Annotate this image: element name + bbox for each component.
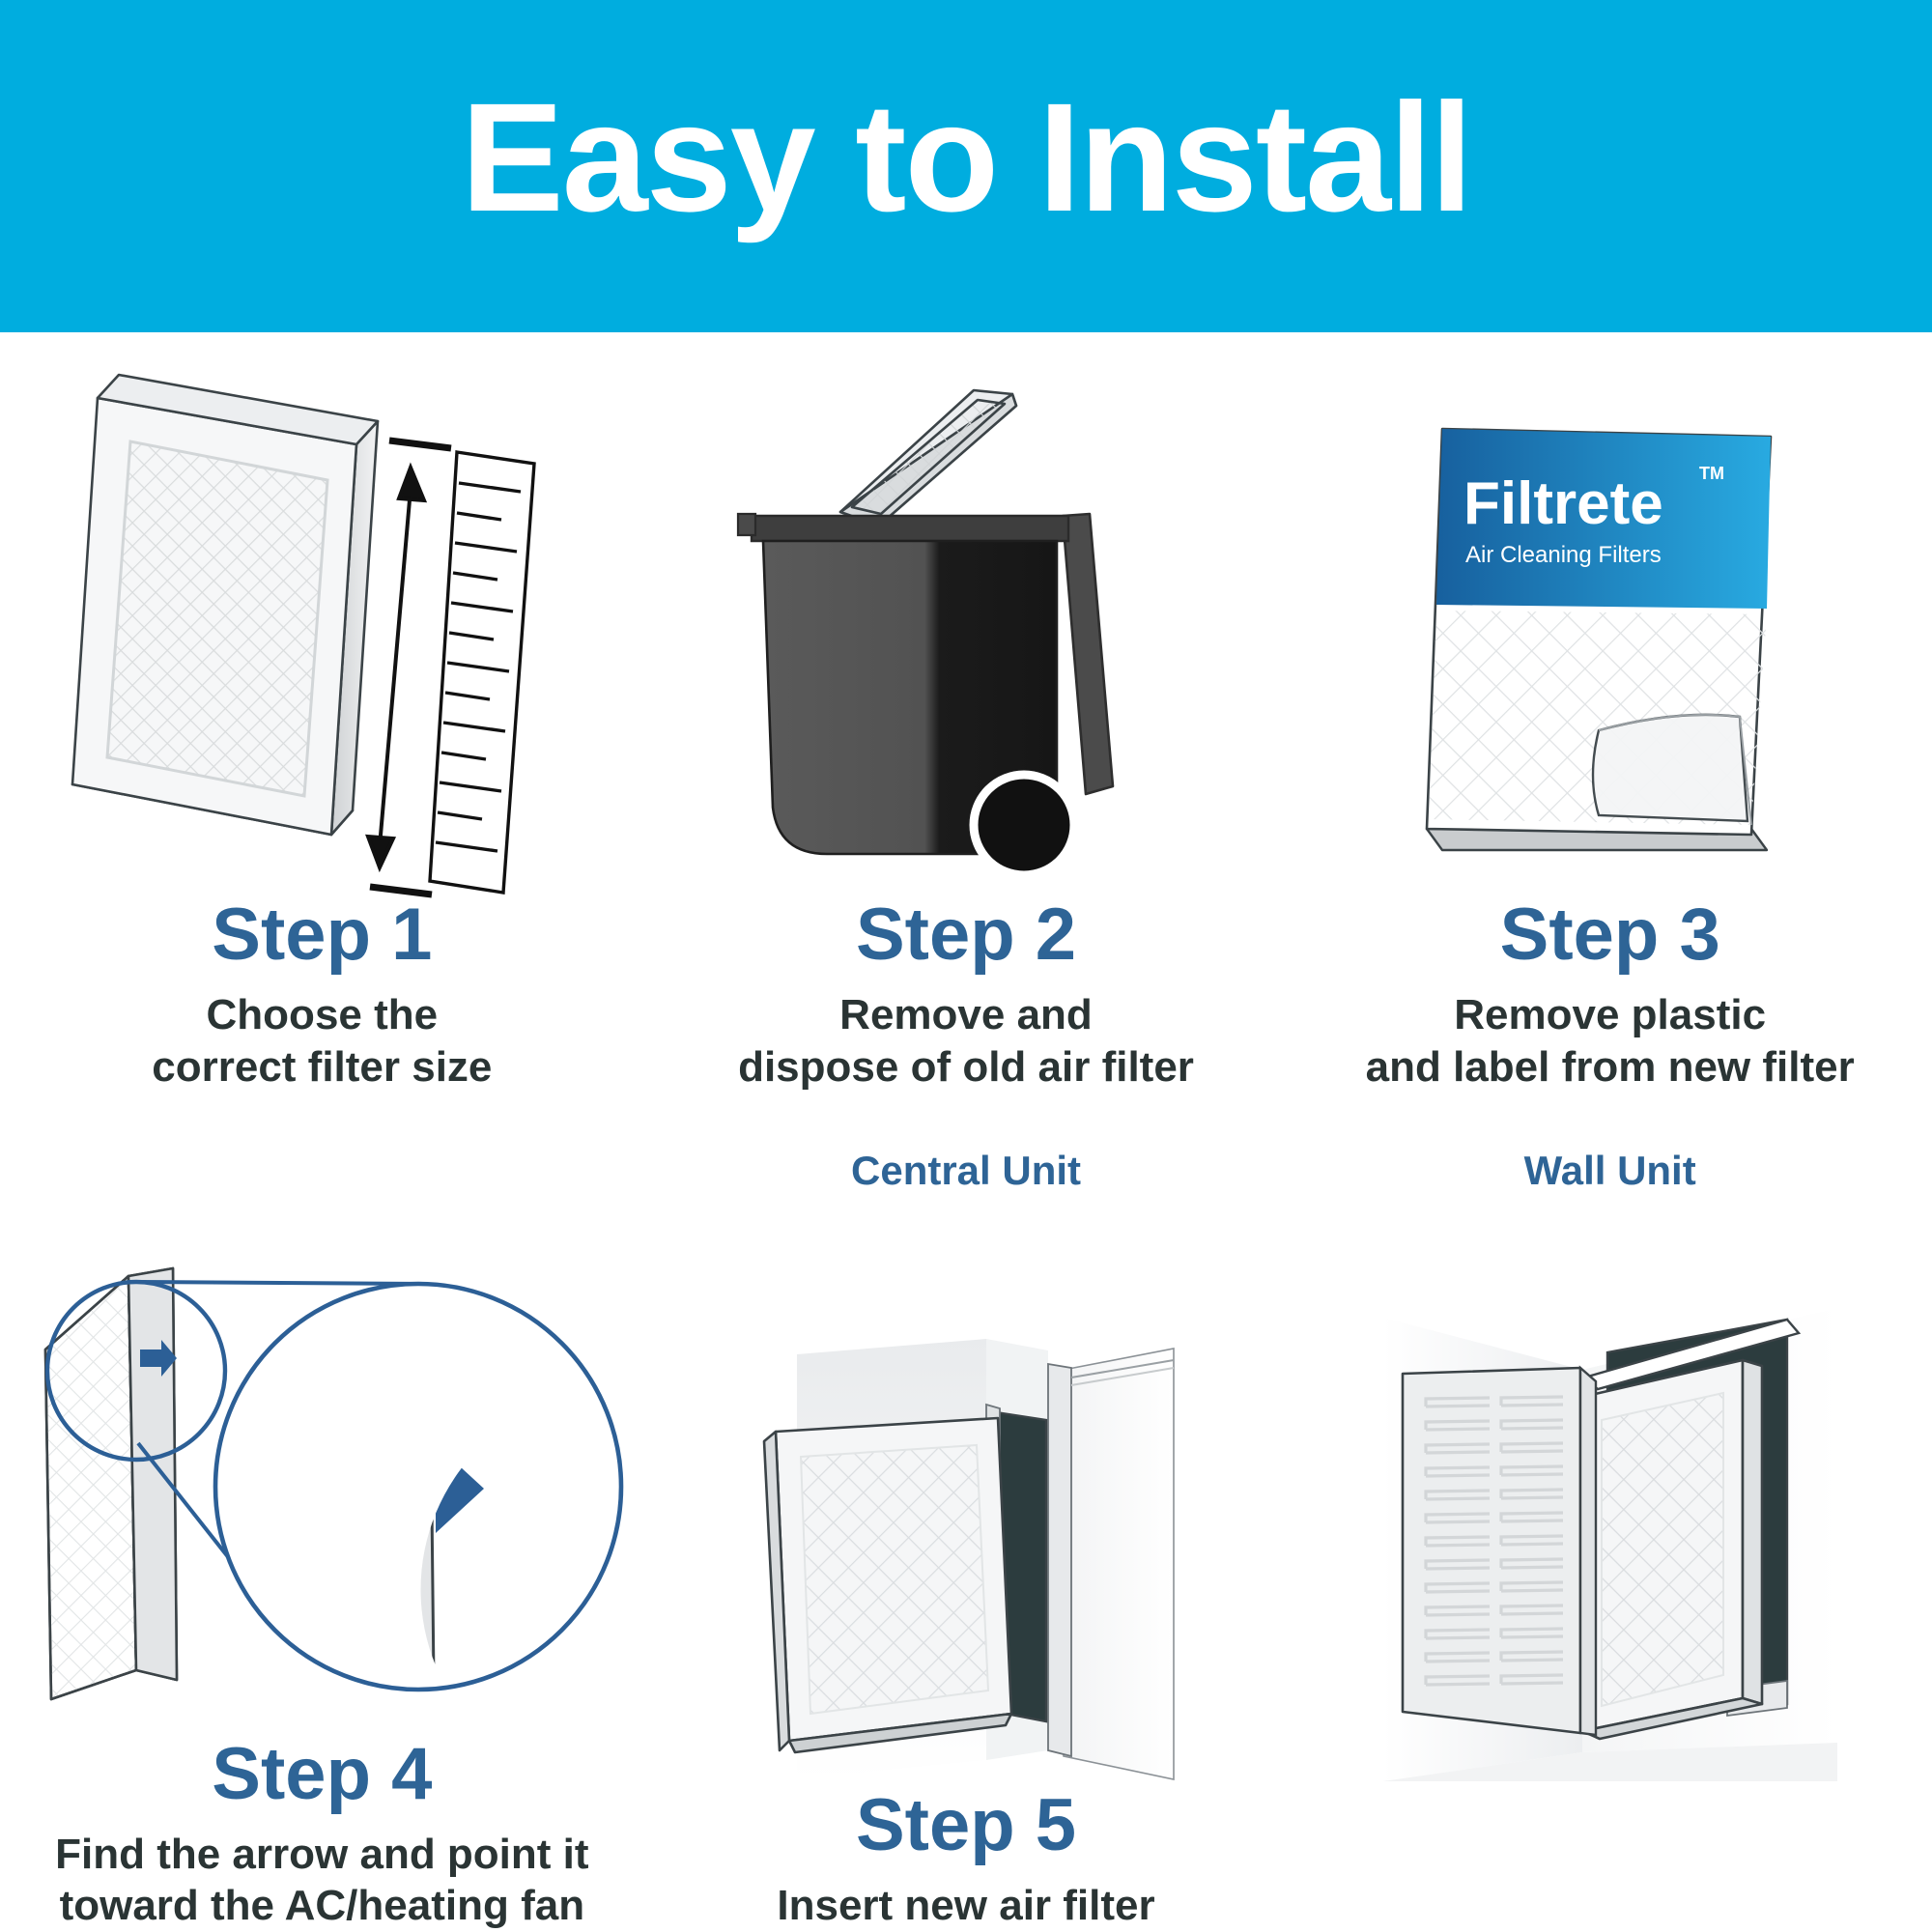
step-1-title: Step 1: [212, 898, 432, 972]
step-3-illustration: Filtrete TM Air Cleaning Filters: [1288, 332, 1932, 873]
air-filter-with-ruler-icon: [51, 371, 592, 873]
step-card-1: Step 1 Choose the correct filter size: [0, 332, 644, 1144]
step-1-caption: Choose the correct filter size: [152, 989, 492, 1093]
step-4-caption: Find the arrow and point it toward the A…: [55, 1829, 588, 1932]
step-4-title: Step 4: [212, 1738, 432, 1811]
step-5-title: Step 5: [856, 1789, 1076, 1862]
header-banner: Easy to Install: [0, 0, 1932, 332]
package-brand-name: Filtrete: [1463, 470, 1663, 537]
step-1-illustration: [0, 332, 644, 873]
step-card-4: Step 4 Find the arrow and point it towar…: [0, 1144, 644, 1932]
step-2-title: Step 2: [856, 898, 1076, 972]
step-card-5-central: Central Unit: [644, 1144, 1289, 1932]
trash-bin-with-old-filter-icon: [734, 371, 1198, 873]
step-4-illustration: [0, 1197, 644, 1728]
step-3-caption: Remove plastic and label from new filter: [1366, 989, 1855, 1093]
central-unit-illustration: [644, 1202, 1289, 1779]
step-card-3: Filtrete TM Air Cleaning Filters Step 3 …: [1288, 332, 1932, 1144]
step-2-illustration: [644, 332, 1289, 873]
step-2-caption: Remove and dispose of old air filter: [738, 989, 1194, 1093]
wall-unit-label: Wall Unit: [1524, 1144, 1696, 1202]
filtrete-package-icon: Filtrete TM Air Cleaning Filters: [1407, 419, 1813, 873]
step-5-caption: Insert new air filter: [777, 1880, 1154, 1932]
package-trademark: TM: [1699, 464, 1724, 483]
central-unit-label: Central Unit: [851, 1144, 1081, 1202]
package-tagline: Air Cleaning Filters: [1465, 542, 1662, 568]
steps-row-bottom: Step 4 Find the arrow and point it towar…: [0, 1144, 1932, 1932]
central-unit-icon: [758, 1296, 1174, 1779]
page-title: Easy to Install: [461, 80, 1471, 252]
step-card-2: Step 2 Remove and dispose of old air fil…: [644, 332, 1289, 1144]
step-3-title: Step 3: [1500, 898, 1720, 972]
step-card-5-wall: Wall Unit: [1288, 1144, 1932, 1932]
wall-unit-illustration: [1288, 1202, 1932, 1781]
steps-grid: Step 1 Choose the correct filter size: [0, 332, 1932, 1932]
wall-unit-icon: [1383, 1298, 1837, 1781]
filter-edge-arrow-magnifier-icon: [32, 1226, 611, 1728]
steps-row-top: Step 1 Choose the correct filter size: [0, 332, 1932, 1144]
